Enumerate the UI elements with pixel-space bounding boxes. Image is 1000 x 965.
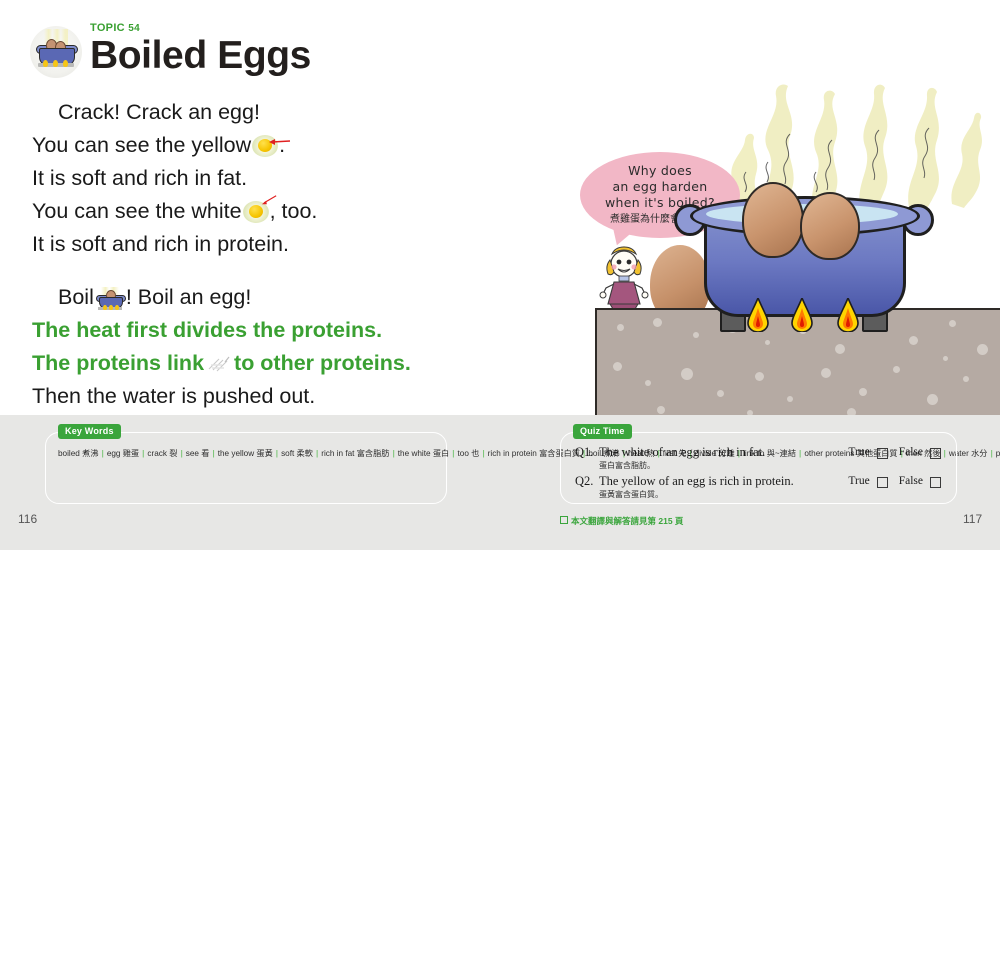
quiz-number: Q1. bbox=[575, 445, 599, 460]
key-words-tag: Key Words bbox=[58, 424, 121, 439]
speech-bubble-line-1: Why does bbox=[628, 163, 692, 179]
lesson-line: It is soft and rich in fat. bbox=[32, 162, 462, 195]
lesson-line: You can see the white, too. bbox=[32, 195, 462, 228]
quiz-question-zh: 蛋白富含脂肪。 bbox=[599, 460, 848, 471]
egg-yolk-part bbox=[249, 205, 263, 218]
link-chain-glyph bbox=[206, 355, 232, 373]
textbook-spread: TOPIC 54 Boiled Eggs Crack! Crack an egg… bbox=[0, 0, 1000, 550]
lesson-line-text: Crack! Crack an egg! bbox=[58, 100, 260, 124]
page-gutter bbox=[498, 830, 502, 965]
illustration: Why does an egg harden when it's boiled?… bbox=[540, 70, 1000, 415]
quiz-answer-options: True False bbox=[848, 445, 947, 459]
key-word-separator: | bbox=[212, 449, 214, 458]
key-word-separator: | bbox=[452, 449, 454, 458]
lesson-line-suffix: . bbox=[279, 133, 285, 157]
lesson-line-text: The proteins link bbox=[32, 351, 204, 375]
quiz-tag: Quiz Time bbox=[573, 424, 632, 439]
lesson-line: Boil! Boil an egg! bbox=[32, 281, 462, 314]
key-word-separator: | bbox=[990, 449, 992, 458]
topic-label-word: TOPIC bbox=[90, 22, 125, 34]
lesson-line-text: Boil bbox=[58, 285, 94, 309]
topic-number: 54 bbox=[128, 23, 140, 34]
flame-icon bbox=[63, 60, 68, 67]
note-marker-icon bbox=[560, 516, 568, 524]
quiz-questions: Q1. The white of an egg is rich in fat. … bbox=[575, 445, 947, 503]
quiz-true-label: True bbox=[848, 475, 869, 487]
lesson-line-text: The heat first divides the proteins. bbox=[32, 318, 382, 342]
lesson-line-suffix: ! Boil an egg! bbox=[126, 285, 252, 309]
pot-egg bbox=[800, 192, 860, 260]
lesson-line-suffix: to other proteins. bbox=[234, 351, 411, 375]
quiz-true-checkbox[interactable] bbox=[877, 448, 888, 459]
key-word-item: too 也 bbox=[458, 449, 480, 458]
flame-icon bbox=[790, 298, 814, 332]
quiz-question-en: The white of an egg is rich in fat. bbox=[599, 445, 848, 460]
key-word-separator: | bbox=[392, 449, 394, 458]
lesson-line-text: You can see the white bbox=[32, 199, 242, 223]
key-word-separator: | bbox=[276, 449, 278, 458]
page-title: Boiled Eggs bbox=[90, 35, 311, 76]
key-words-panel: Key Words boiled 煮沸|egg 雞蛋|crack 裂|see 看… bbox=[45, 432, 447, 504]
egg-yolk-icon bbox=[252, 135, 278, 157]
quiz-text: The white of an egg is rich in fat. 蛋白富含… bbox=[599, 445, 848, 471]
quiz-question: Q2. The yellow of an egg is rich in prot… bbox=[575, 474, 947, 500]
flame-icon bbox=[53, 60, 58, 67]
key-word-item: the yellow 蛋黃 bbox=[218, 449, 273, 458]
key-word-separator: | bbox=[316, 449, 318, 458]
egg-white-icon bbox=[243, 201, 269, 223]
key-word-item: rich in fat 富含脂肪 bbox=[321, 449, 389, 458]
key-word-item: the white 蛋白 bbox=[398, 449, 449, 458]
quiz-panel: Quiz Time Q1. The white of an egg is ric… bbox=[560, 432, 957, 504]
quiz-number: Q2. bbox=[575, 474, 599, 489]
translation-note-text: 本文翻譯與解答請見第 215 頁 bbox=[571, 516, 683, 526]
page-number-right: 117 bbox=[963, 512, 982, 526]
stanza-gap bbox=[32, 261, 462, 281]
lesson-line-text: It is soft and rich in fat. bbox=[32, 166, 247, 190]
pot-egg bbox=[742, 182, 804, 258]
page-header: TOPIC 54 Boiled Eggs bbox=[30, 22, 311, 78]
key-word-separator: | bbox=[482, 449, 484, 458]
key-word-separator: | bbox=[102, 449, 104, 458]
quiz-question-zh: 蛋黃富含蛋白質。 bbox=[599, 489, 848, 500]
link-chain-icon bbox=[206, 350, 232, 368]
header-text: TOPIC 54 Boiled Eggs bbox=[90, 22, 311, 78]
key-word-item: pushed out 擠出 bbox=[996, 449, 1000, 458]
lesson-line: It is soft and rich in protein. bbox=[32, 228, 462, 261]
content-area: TOPIC 54 Boiled Eggs Crack! Crack an egg… bbox=[0, 0, 1000, 415]
key-word-item: soft 柔軟 bbox=[281, 449, 313, 458]
flame-icon bbox=[109, 305, 113, 310]
flame-icon bbox=[43, 60, 48, 67]
quiz-false-checkbox[interactable] bbox=[930, 477, 941, 488]
lesson-line-text: It is soft and rich in protein. bbox=[32, 232, 289, 256]
quiz-question-en: The yellow of an egg is rich in protein. bbox=[599, 474, 848, 489]
quiz-true-label: True bbox=[848, 446, 869, 458]
lesson-text: Crack! Crack an egg! You can see the yel… bbox=[32, 96, 462, 415]
page-number-left: 116 bbox=[18, 512, 37, 526]
flame-icon bbox=[836, 298, 860, 332]
lesson-line: Crack! Crack an egg! bbox=[32, 96, 462, 129]
boiling-pot-icon bbox=[95, 287, 125, 311]
lesson-line-text: You can see the yellow bbox=[32, 133, 251, 157]
quiz-question: Q1. The white of an egg is rich in fat. … bbox=[575, 445, 947, 471]
lesson-line-suffix: , too. bbox=[270, 199, 318, 223]
quiz-text: The yellow of an egg is rich in protein.… bbox=[599, 474, 848, 500]
flame-icon bbox=[746, 298, 770, 332]
translation-note: 本文翻譯與解答請見第 215 頁 bbox=[560, 515, 683, 527]
key-word-separator: | bbox=[180, 449, 182, 458]
lesson-line: Then the water is pushed out. bbox=[32, 380, 462, 413]
key-word-item: boiled 煮沸 bbox=[58, 449, 99, 458]
key-word-item: egg 雞蛋 bbox=[107, 449, 139, 458]
quiz-answer-options: True False bbox=[848, 474, 947, 488]
quiz-false-label: False bbox=[899, 475, 923, 487]
quiz-true-checkbox[interactable] bbox=[877, 477, 888, 488]
lesson-line-text: Then the water is pushed out. bbox=[32, 384, 315, 408]
lesson-line: The proteins linkto other proteins. bbox=[32, 347, 462, 380]
key-words-list: boiled 煮沸|egg 雞蛋|crack 裂|see 看|the yello… bbox=[58, 447, 440, 460]
lesson-line: The heat first divides the proteins. bbox=[32, 314, 462, 347]
quiz-false-checkbox[interactable] bbox=[930, 448, 941, 459]
quiz-false-label: False bbox=[899, 446, 923, 458]
key-word-separator: | bbox=[142, 449, 144, 458]
key-word-item: see 看 bbox=[186, 449, 210, 458]
flame-icon bbox=[103, 305, 107, 310]
boiling-pot-icon bbox=[30, 26, 82, 78]
cooking-pot bbox=[690, 188, 915, 318]
lesson-line: You can see the yellow. bbox=[32, 129, 462, 162]
key-word-item: crack 裂 bbox=[147, 449, 177, 458]
flame-icon bbox=[115, 305, 119, 310]
